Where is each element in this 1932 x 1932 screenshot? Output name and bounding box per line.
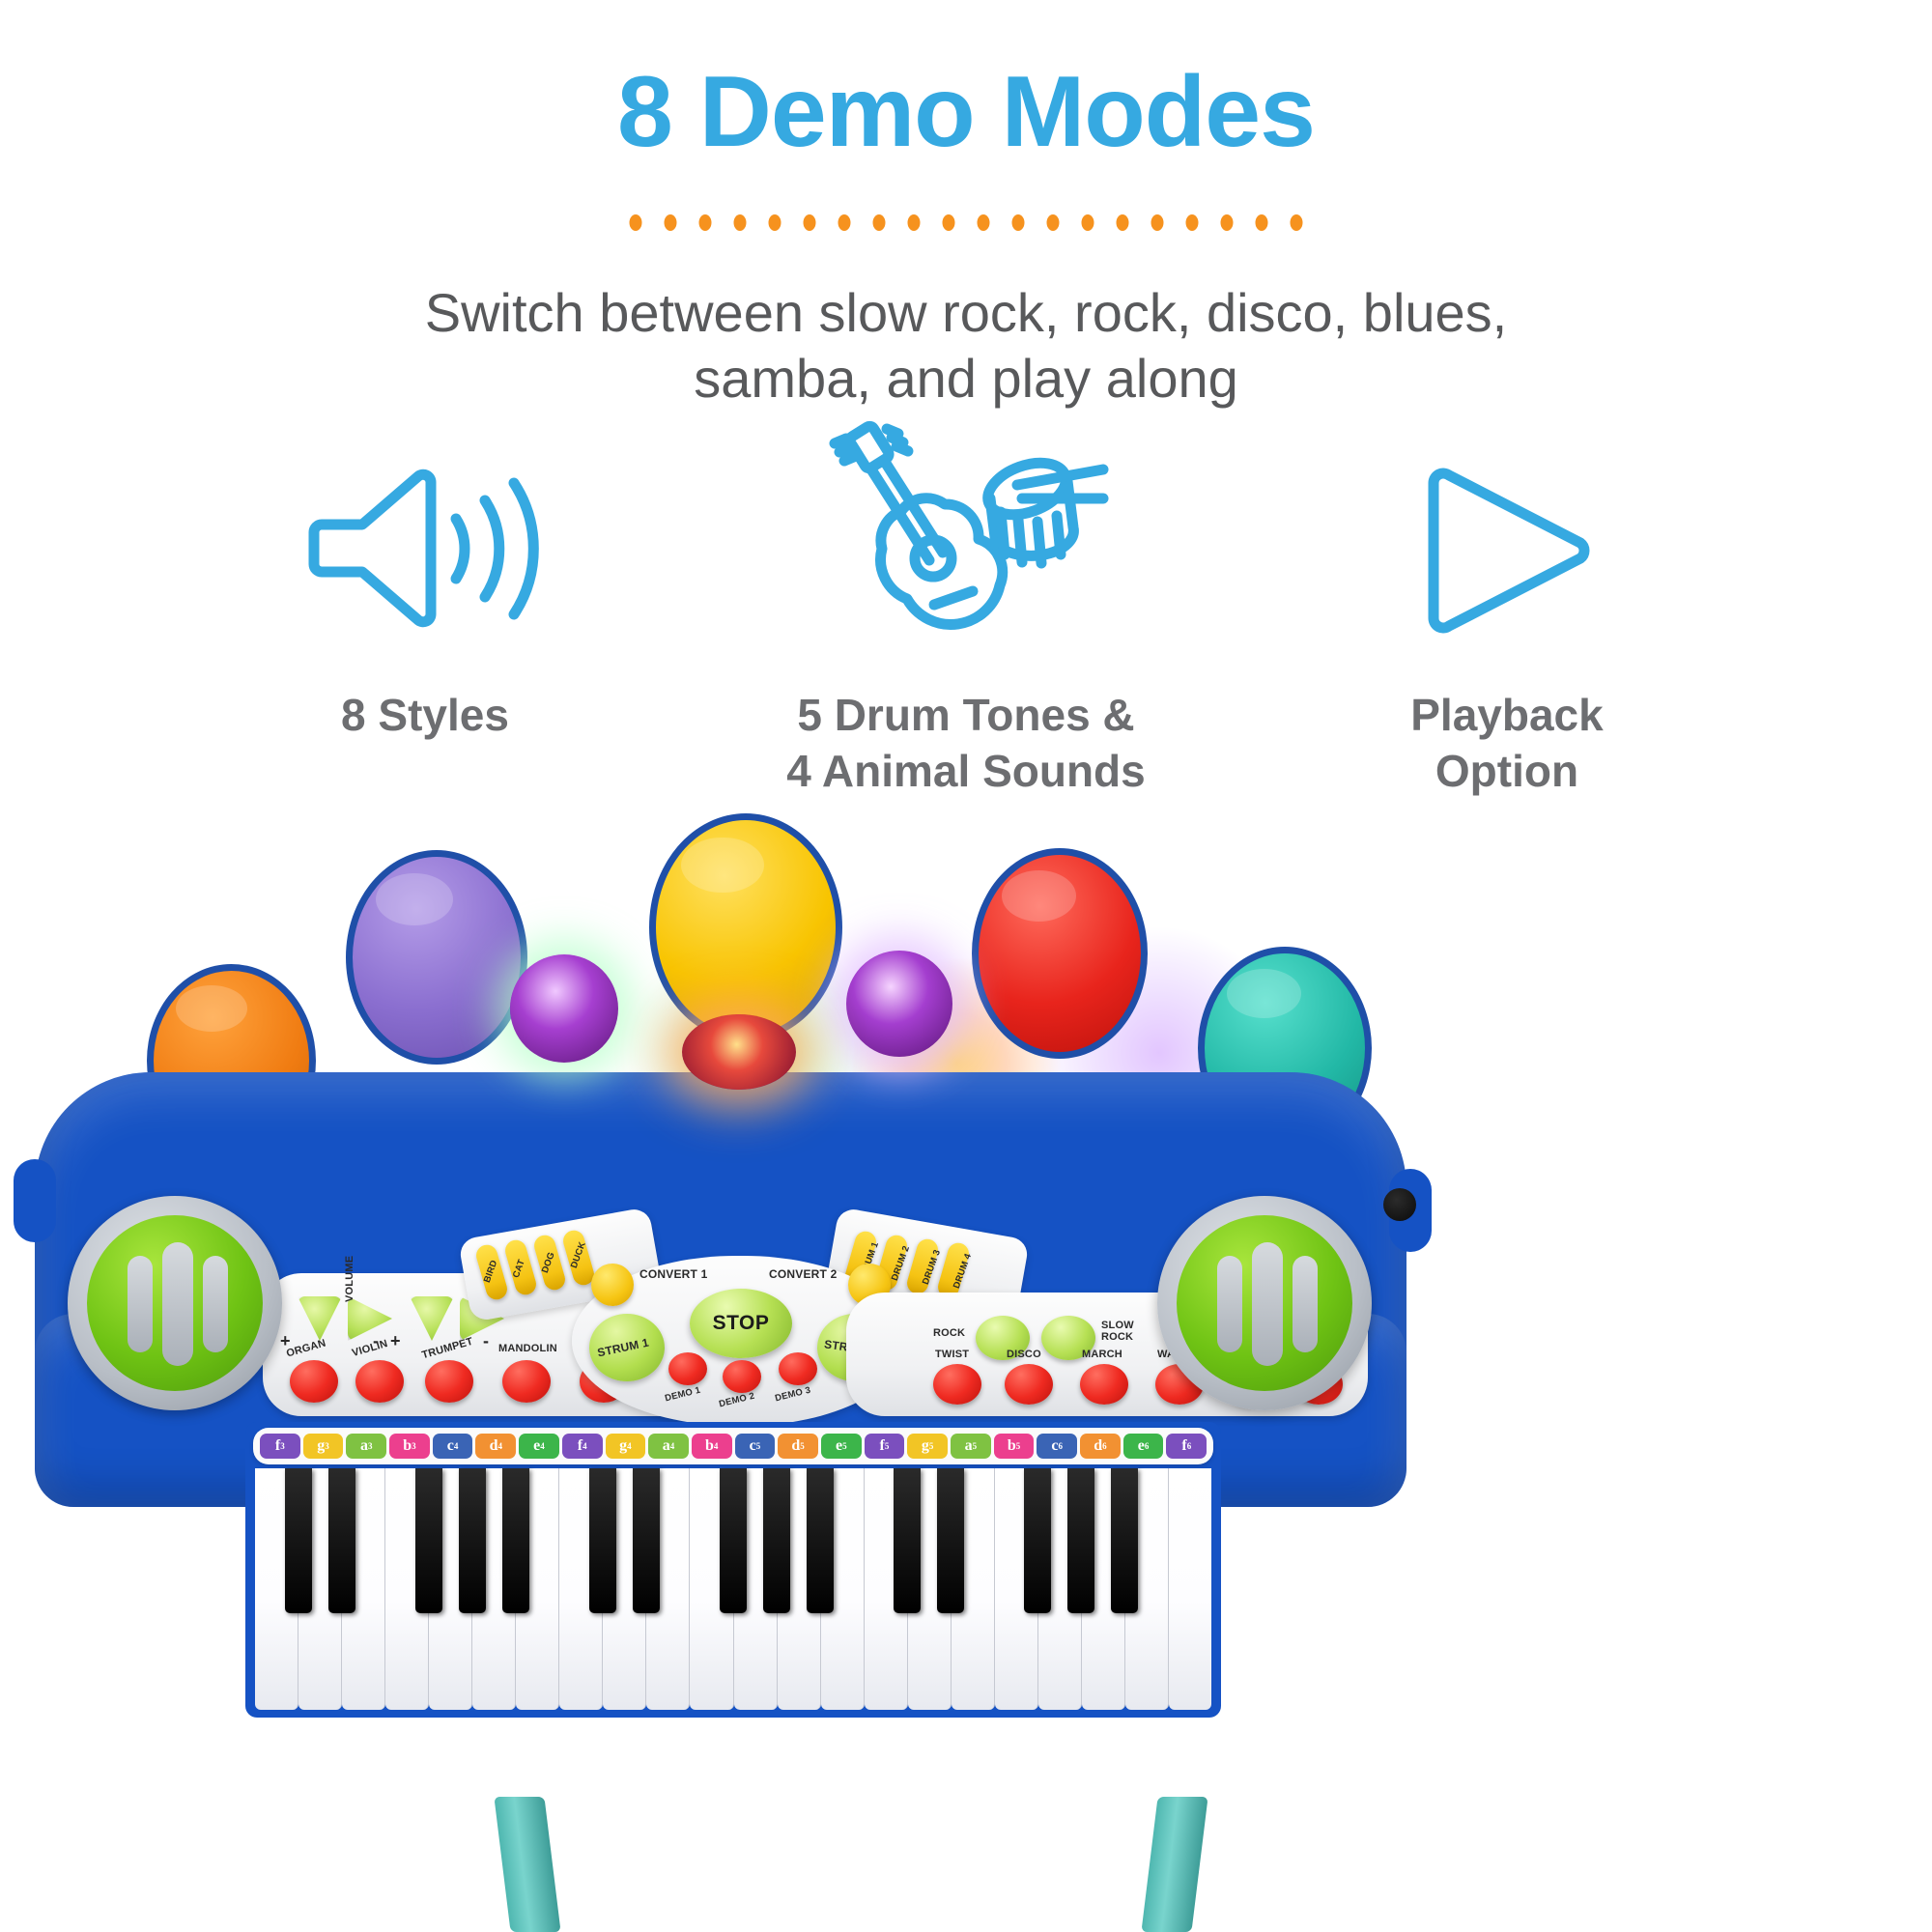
speaker-right-grill-3 bbox=[1293, 1256, 1318, 1352]
black-key[interactable] bbox=[1111, 1468, 1138, 1613]
black-key[interactable] bbox=[937, 1468, 964, 1613]
convert-2-label: CONVERT 2 bbox=[769, 1267, 837, 1281]
stand-leg-left bbox=[494, 1797, 560, 1932]
rhythm-label-march: MARCH bbox=[1082, 1349, 1122, 1360]
light-dome-center[interactable] bbox=[682, 1014, 796, 1090]
black-key[interactable] bbox=[720, 1468, 747, 1613]
infographic-page: 8 Demo Modes Switch between slow rock, r… bbox=[0, 0, 1932, 1932]
speaker-left-grill-1 bbox=[128, 1256, 153, 1352]
divider-dot bbox=[1012, 214, 1025, 231]
note-chip-g3[interactable]: g3 bbox=[303, 1434, 344, 1459]
note-chip-f3[interactable]: f3 bbox=[260, 1434, 300, 1459]
divider-dot bbox=[734, 214, 747, 231]
note-chip-f6[interactable]: f6 bbox=[1166, 1434, 1207, 1459]
feature-row: 8 Styles bbox=[0, 415, 1932, 799]
rhythm-label-twist: TWIST bbox=[935, 1349, 969, 1360]
microphone-jack[interactable] bbox=[1383, 1188, 1416, 1221]
divider-dot bbox=[630, 214, 642, 231]
note-chip-b5[interactable]: b5 bbox=[994, 1434, 1035, 1459]
divider-dot bbox=[1151, 214, 1164, 231]
drum-pad-purple[interactable] bbox=[346, 850, 527, 1065]
divider-dot bbox=[908, 214, 921, 231]
body-fin-left bbox=[14, 1159, 56, 1242]
note-chip-b4[interactable]: b4 bbox=[692, 1434, 732, 1459]
note-chip-e4[interactable]: e4 bbox=[519, 1434, 559, 1459]
note-chip-c4[interactable]: c4 bbox=[433, 1434, 473, 1459]
divider-dot bbox=[838, 214, 851, 231]
demo-button-3[interactable] bbox=[779, 1352, 817, 1385]
instrument-button-mandolin[interactable] bbox=[502, 1360, 551, 1403]
divider-dot bbox=[1117, 214, 1129, 231]
rhythm-button-march[interactable] bbox=[1080, 1364, 1128, 1405]
page-title: 8 Demo Modes bbox=[0, 60, 1932, 165]
black-key[interactable] bbox=[502, 1468, 529, 1613]
divider-dot bbox=[699, 214, 712, 231]
divider-dot bbox=[943, 214, 955, 231]
light-dome-right[interactable] bbox=[846, 951, 952, 1057]
speaker-left-grill-2 bbox=[162, 1242, 193, 1366]
demo-button-1[interactable] bbox=[668, 1352, 707, 1385]
feature-8-styles: 8 Styles bbox=[155, 415, 696, 744]
subtitle-line-1: Switch between slow rock, rock, disco, b… bbox=[425, 282, 1507, 343]
sign-label-3: - bbox=[483, 1331, 489, 1351]
black-key[interactable] bbox=[1024, 1468, 1051, 1613]
subtitle-line-2: samba, and play along bbox=[694, 348, 1238, 409]
black-key[interactable] bbox=[285, 1468, 312, 1613]
black-key[interactable] bbox=[459, 1468, 486, 1613]
black-keys bbox=[255, 1468, 1211, 1613]
rhythm-button-disco[interactable] bbox=[1005, 1364, 1053, 1405]
stand-leg-right bbox=[1141, 1797, 1207, 1932]
speaker-right-grill-2 bbox=[1252, 1242, 1283, 1366]
play-triangle-icon bbox=[1410, 415, 1604, 638]
note-chip-c6[interactable]: c6 bbox=[1037, 1434, 1077, 1459]
black-key[interactable] bbox=[807, 1468, 834, 1613]
divider-dot bbox=[1291, 214, 1303, 231]
feature-label-8-styles: 8 Styles bbox=[341, 688, 509, 744]
speaker-right bbox=[1157, 1196, 1372, 1410]
black-key[interactable] bbox=[415, 1468, 442, 1613]
note-label-strip: f3g3a3b3c4d4e4f4g4a4b4c5d5e5f5g5a5b5c6d6… bbox=[253, 1428, 1213, 1464]
light-dome-left[interactable] bbox=[510, 954, 618, 1063]
divider-dot bbox=[665, 214, 677, 231]
note-chip-a3[interactable]: a3 bbox=[346, 1434, 386, 1459]
speaker-right-grill-1 bbox=[1217, 1256, 1242, 1352]
rhythm-green-label-slow-rock: SLOW ROCK bbox=[1101, 1320, 1142, 1343]
rhythm-green-label-rock: ROCK bbox=[933, 1327, 965, 1339]
instrument-button-organ[interactable] bbox=[290, 1360, 338, 1403]
convert-1-label: CONVERT 1 bbox=[639, 1267, 707, 1281]
feature-label-drum-animal: 5 Drum Tones & 4 Animal Sounds bbox=[786, 688, 1145, 799]
black-key[interactable] bbox=[894, 1468, 921, 1613]
demo-button-2[interactable] bbox=[723, 1360, 761, 1393]
instrument-button-trumpet[interactable] bbox=[425, 1360, 473, 1403]
speaker-left bbox=[68, 1196, 282, 1410]
black-key[interactable] bbox=[633, 1468, 660, 1613]
divider-dot bbox=[1221, 214, 1234, 231]
note-chip-f5[interactable]: f5 bbox=[865, 1434, 905, 1459]
note-chip-d5[interactable]: d5 bbox=[778, 1434, 818, 1459]
black-key[interactable] bbox=[328, 1468, 355, 1613]
speaker-waves-icon bbox=[304, 415, 546, 638]
note-chip-e6[interactable]: e6 bbox=[1123, 1434, 1164, 1459]
note-chip-a4[interactable]: a4 bbox=[648, 1434, 689, 1459]
divider-dot bbox=[1186, 214, 1199, 231]
divider-dot bbox=[804, 214, 816, 231]
note-chip-a5[interactable]: a5 bbox=[951, 1434, 991, 1459]
instrument-label-mandolin: MANDOLIN bbox=[498, 1343, 557, 1354]
feature-label-playback: Playback Option bbox=[1410, 688, 1603, 799]
divider-dot bbox=[769, 214, 781, 231]
rhythm-label-disco: DISCO bbox=[1007, 1349, 1041, 1360]
rhythm-button-twist[interactable] bbox=[933, 1364, 981, 1405]
divider-dot bbox=[1256, 214, 1268, 231]
divider-dot bbox=[1082, 214, 1094, 231]
product-image-keyboard: +-+-VOLUMETEMPOPIANOGUITARORGANVIOLINTRU… bbox=[0, 1024, 1932, 1932]
stop-button[interactable]: STOP bbox=[690, 1289, 792, 1358]
drum-pad-yellow[interactable] bbox=[649, 813, 842, 1041]
sign-label-2: + bbox=[390, 1331, 401, 1351]
divider-dot bbox=[873, 214, 886, 231]
note-chip-g5[interactable]: g5 bbox=[907, 1434, 948, 1459]
black-key[interactable] bbox=[763, 1468, 790, 1613]
page-subtitle: Switch between slow rock, rock, disco, b… bbox=[193, 280, 1739, 412]
feature-drum-animal: 5 Drum Tones & 4 Animal Sounds bbox=[696, 415, 1236, 799]
note-chip-d4[interactable]: d4 bbox=[475, 1434, 516, 1459]
note-chip-e5[interactable]: e5 bbox=[821, 1434, 862, 1459]
instrument-button-violin[interactable] bbox=[355, 1360, 404, 1403]
feature-playback: Playback Option bbox=[1236, 415, 1777, 799]
guitar-drum-icon bbox=[821, 415, 1111, 638]
divider-dot bbox=[1047, 214, 1060, 231]
black-key[interactable] bbox=[589, 1468, 616, 1613]
divider-dot bbox=[978, 214, 990, 231]
speaker-left-grill-3 bbox=[203, 1256, 228, 1352]
drum-pad-red[interactable] bbox=[972, 848, 1148, 1059]
note-chip-d6[interactable]: d6 bbox=[1080, 1434, 1121, 1459]
black-key[interactable] bbox=[1067, 1468, 1094, 1613]
convert-1-button[interactable] bbox=[591, 1264, 634, 1306]
note-chip-b3[interactable]: b3 bbox=[389, 1434, 430, 1459]
dot-divider bbox=[630, 214, 1303, 231]
note-chip-f4[interactable]: f4 bbox=[562, 1434, 603, 1459]
note-chip-c5[interactable]: c5 bbox=[735, 1434, 776, 1459]
green-label-volume: VOLUME bbox=[344, 1256, 355, 1302]
note-chip-g4[interactable]: g4 bbox=[606, 1434, 646, 1459]
